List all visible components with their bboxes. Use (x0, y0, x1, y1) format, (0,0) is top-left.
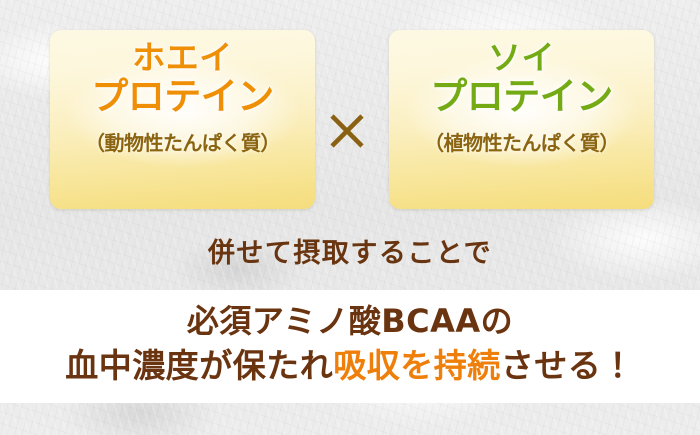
multiply-icon (321, 105, 373, 157)
middle-caption: 併せて摂取することで (0, 231, 700, 270)
headline-line2-part1: 血中濃度が保たれ (65, 346, 333, 385)
headline-accent: 吸収を持続 (333, 346, 501, 385)
infographic-canvas: ホエイ プロテイン （動物性たんぱく質） ソイ プロテイン (0, 0, 700, 435)
soy-card-content: ソイ プロテイン （植物性たんぱく質） (389, 30, 654, 156)
headline-line-2: 血中濃度が保たれ吸収を持続させる！ (0, 338, 700, 384)
whey-card-title: ホエイ プロテイン (50, 41, 315, 115)
soy-title-line2: プロテイン (389, 78, 654, 115)
soy-protein-card: ソイ プロテイン （植物性たんぱく質） (389, 30, 654, 209)
protein-cards-row: ホエイ プロテイン （動物性たんぱく質） ソイ プロテイン (0, 0, 700, 225)
whey-protein-card: ホエイ プロテイン （動物性たんぱく質） (50, 30, 315, 209)
whey-card-content: ホエイ プロテイン （動物性たんぱく質） (50, 30, 315, 156)
soy-card-subtitle: （植物性たんぱく質） (389, 127, 654, 156)
soy-card-title: ソイ プロテイン (389, 41, 654, 115)
headline-band: 必須アミノ酸BCAAの 血中濃度が保たれ吸収を持続させる！ (0, 290, 700, 403)
whey-title-line1: ホエイ (50, 41, 315, 78)
headline-line2-part2: させる！ (501, 346, 635, 385)
whey-card-subtitle: （動物性たんぱく質） (50, 127, 315, 156)
whey-title-line2: プロテイン (50, 78, 315, 115)
headline-line-1: 必須アミノ酸BCAAの (0, 290, 700, 338)
soy-title-line1: ソイ (389, 41, 654, 78)
